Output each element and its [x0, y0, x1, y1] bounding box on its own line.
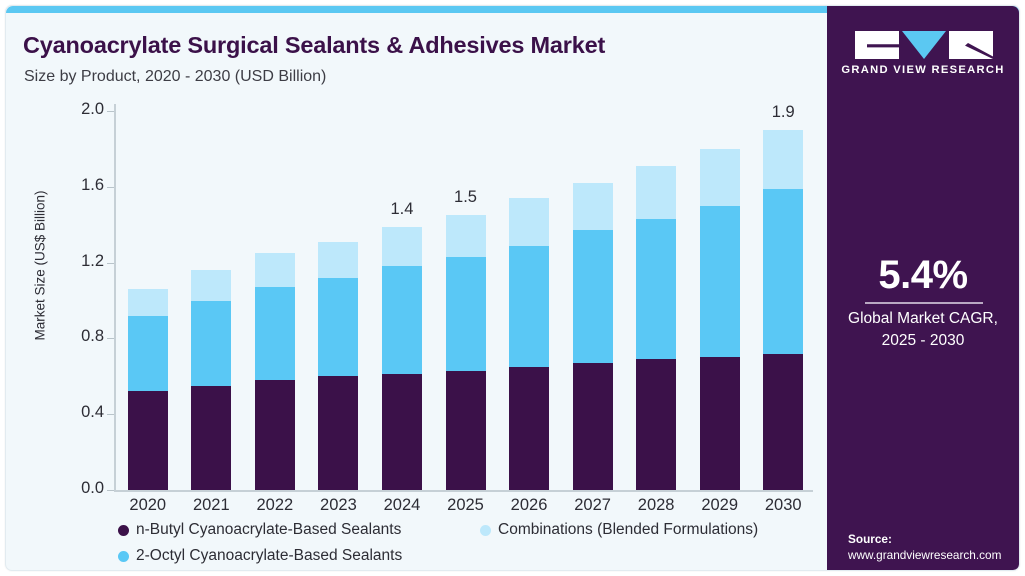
- bar-segment[interactable]: [573, 363, 613, 490]
- cagr-caption-line2: 2025 - 2030: [882, 332, 965, 349]
- y-tick-mark: [107, 338, 114, 339]
- bar-segment[interactable]: [318, 242, 358, 278]
- chart-card: Cyanoacrylate Surgical Sealants & Adhesi…: [5, 5, 1020, 571]
- bar-value-label: 1.4: [372, 200, 432, 219]
- cagr-value: 5.4%: [827, 253, 1019, 298]
- bar-segment[interactable]: [700, 149, 740, 206]
- bar-segment[interactable]: [446, 257, 486, 371]
- brand-panel: GRAND VIEW RESEARCH 5.4% Global Market C…: [827, 6, 1019, 571]
- x-tick-label: 2023: [304, 496, 372, 515]
- bar-group[interactable]: [636, 111, 676, 490]
- legend-item[interactable]: 2-Octyl Cyanoacrylate-Based Sealants: [118, 547, 402, 565]
- bar-group[interactable]: [318, 111, 358, 490]
- bar-group[interactable]: [700, 111, 740, 490]
- bar-segment[interactable]: [509, 367, 549, 490]
- bar-segment[interactable]: [382, 266, 422, 374]
- y-tick-label: 0.8: [62, 327, 104, 346]
- x-tick-label: 2021: [177, 496, 245, 515]
- x-tick-label: 2020: [114, 496, 182, 515]
- bar-segment[interactable]: [763, 354, 803, 490]
- bar-segment[interactable]: [255, 253, 295, 287]
- legend-label: 2-Octyl Cyanoacrylate-Based Sealants: [136, 547, 402, 565]
- y-tick-label: 1.2: [62, 252, 104, 271]
- bar-segment[interactable]: [318, 376, 358, 490]
- bar-group[interactable]: [128, 111, 168, 490]
- y-tick-label: 2.0: [62, 100, 104, 119]
- bar-segment[interactable]: [636, 166, 676, 219]
- cagr-caption: Global Market CAGR, 2025 - 2030: [827, 308, 1019, 352]
- x-tick-label: 2025: [432, 496, 500, 515]
- bar-value-label: 1.9: [753, 103, 813, 122]
- x-tick-label: 2028: [622, 496, 690, 515]
- bar-segment[interactable]: [509, 198, 549, 245]
- y-tick-mark: [107, 490, 114, 491]
- bar-group[interactable]: [382, 111, 422, 490]
- bar-group[interactable]: [509, 111, 549, 490]
- bar-segment[interactable]: [191, 386, 231, 490]
- bar-segment[interactable]: [509, 246, 549, 367]
- bar-segment[interactable]: [573, 230, 613, 363]
- source-url: www.grandviewresearch.com: [848, 548, 1001, 562]
- legend-swatch-icon: [480, 525, 491, 536]
- bar-segment[interactable]: [128, 391, 168, 490]
- y-tick-label: 1.6: [62, 176, 104, 195]
- bar-segment[interactable]: [700, 357, 740, 490]
- y-tick-mark: [107, 111, 114, 112]
- x-tick-label: 2027: [559, 496, 627, 515]
- x-tick-label: 2029: [686, 496, 754, 515]
- bar-group[interactable]: [191, 111, 231, 490]
- bar-segment[interactable]: [128, 289, 168, 316]
- bar-segment[interactable]: [636, 219, 676, 359]
- x-tick-label: 2022: [241, 496, 309, 515]
- cagr-divider: [865, 302, 983, 304]
- y-tick-label: 0.4: [62, 403, 104, 422]
- y-tick-mark: [107, 187, 114, 188]
- gvr-logo-icon: [855, 31, 993, 59]
- legend-swatch-icon: [118, 551, 129, 562]
- source-label: Source:: [848, 532, 892, 546]
- chart-pane: Cyanoacrylate Surgical Sealants & Adhesi…: [6, 13, 826, 571]
- y-axis-title: Market Size (US$ Billion): [33, 166, 48, 366]
- bar-segment[interactable]: [382, 227, 422, 267]
- x-axis-line: [114, 490, 813, 492]
- bar-group[interactable]: [763, 111, 803, 490]
- bar-group[interactable]: [255, 111, 295, 490]
- x-tick-label: 2030: [749, 496, 817, 515]
- x-tick-label: 2024: [368, 496, 436, 515]
- cagr-caption-line1: Global Market CAGR,: [848, 310, 998, 327]
- bar-segment[interactable]: [446, 215, 486, 257]
- bar-value-label: 1.5: [436, 188, 496, 207]
- x-tick-label: 2026: [495, 496, 563, 515]
- bar-segment[interactable]: [763, 130, 803, 189]
- y-tick-mark: [107, 263, 114, 264]
- legend-item[interactable]: Combinations (Blended Formulations): [480, 521, 758, 539]
- bar-segment[interactable]: [700, 206, 740, 358]
- legend-swatch-icon: [118, 525, 129, 536]
- bar-segment[interactable]: [763, 189, 803, 354]
- legend-label: n-Butyl Cyanoacrylate-Based Sealants: [136, 521, 401, 539]
- y-tick-label: 0.0: [62, 479, 104, 498]
- legend-item[interactable]: n-Butyl Cyanoacrylate-Based Sealants: [118, 521, 401, 539]
- legend-label: Combinations (Blended Formulations): [498, 521, 758, 539]
- bar-segment[interactable]: [382, 374, 422, 490]
- y-tick-mark: [107, 414, 114, 415]
- y-axis-line: [114, 104, 116, 491]
- bar-segment[interactable]: [255, 380, 295, 490]
- bar-segment[interactable]: [128, 316, 168, 392]
- bar-segment[interactable]: [318, 278, 358, 377]
- bar-segment[interactable]: [255, 287, 295, 380]
- bar-segment[interactable]: [191, 301, 231, 386]
- bar-group[interactable]: [446, 111, 486, 490]
- bar-segment[interactable]: [573, 183, 613, 230]
- bar-segment[interactable]: [446, 371, 486, 490]
- bar-group[interactable]: [573, 111, 613, 490]
- brand-wordmark: GRAND VIEW RESEARCH: [827, 64, 1019, 76]
- bar-segment[interactable]: [636, 359, 676, 490]
- screenshot-root: Cyanoacrylate Surgical Sealants & Adhesi…: [0, 0, 1025, 576]
- bar-chart-plot: Market Size (US$ Billion) 0.00.40.81.21.…: [6, 13, 826, 571]
- bar-segment[interactable]: [191, 270, 231, 300]
